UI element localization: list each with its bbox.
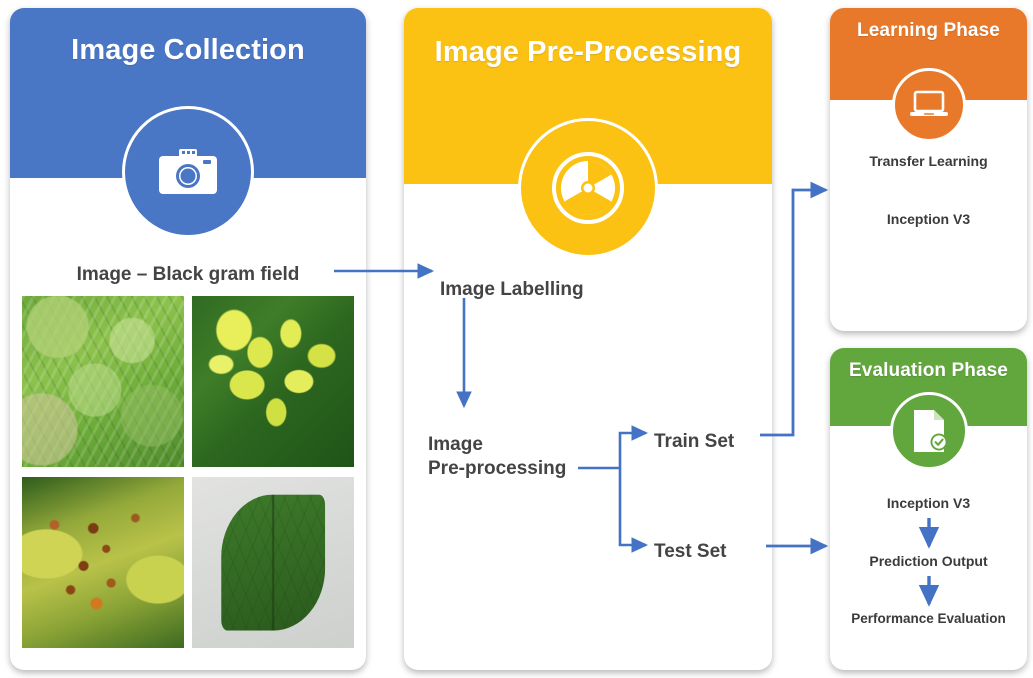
document-check-icon — [890, 392, 968, 470]
leaf-crinkle-photo — [22, 296, 184, 467]
image-collection-title: Image Collection — [71, 34, 305, 67]
yellow-mosaic-photo — [192, 296, 354, 467]
node-image-preprocessing: Image Pre-processing — [428, 433, 608, 481]
image-collection-card: Image Collection Image – Black gram fiel… — [10, 8, 366, 670]
leaf-photo-grid — [16, 296, 360, 648]
learning-item-transfer-learning: Transfer Learning — [830, 153, 1027, 169]
learning-phase-title: Learning Phase — [857, 20, 1000, 42]
image-preprocessing-card: Image Pre-Processing Image Labelling Ima… — [404, 8, 772, 670]
node-test-set: Test Set — [654, 540, 727, 564]
learning-phase-card: Learning Phase Transfer Learning Incepti… — [830, 8, 1027, 331]
evaluation-item-inception-v3: Inception V3 — [830, 495, 1027, 511]
pipeline-diagram: Image Collection Image – Black gram fiel… — [0, 0, 1033, 678]
leaf-spot-photo — [22, 477, 184, 648]
evaluation-item-prediction-output: Prediction Output — [830, 553, 1027, 569]
evaluation-phase-card: Evaluation Phase Inception V3 Prediction… — [830, 348, 1027, 670]
image-preprocessing-title: Image Pre-Processing — [435, 36, 742, 69]
learning-item-inception-v3: Inception V3 — [830, 211, 1027, 227]
evaluation-phase-title: Evaluation Phase — [849, 360, 1008, 382]
node-image-preprocessing-line2: Pre-processing — [428, 457, 608, 481]
node-image-preprocessing-line1: Image — [428, 433, 608, 457]
evaluation-item-performance-evaluation: Performance Evaluation — [830, 611, 1027, 626]
node-image-labelling: Image Labelling — [440, 278, 584, 302]
image-collection-caption: Image – Black gram field — [10, 264, 366, 286]
radiation-icon — [518, 118, 658, 258]
camera-icon — [122, 106, 254, 238]
healthy-leaf-photo — [192, 477, 354, 648]
laptop-icon — [892, 68, 966, 142]
node-train-set: Train Set — [654, 430, 734, 454]
